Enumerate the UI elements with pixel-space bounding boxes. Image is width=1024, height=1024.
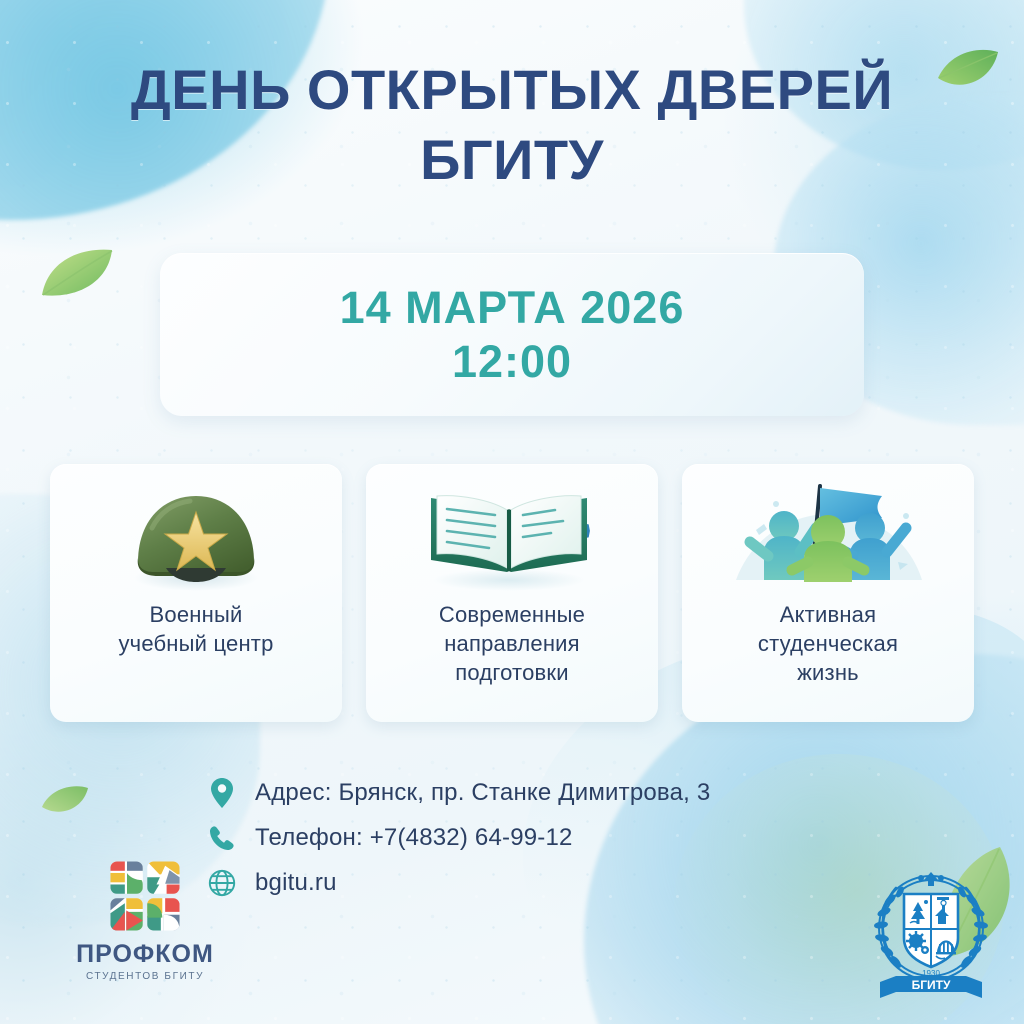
card-art-programs — [366, 464, 658, 592]
contact-address-text: Адрес: Брянск, пр. Станке Димитрова, 3 — [255, 779, 710, 807]
event-date-panel: 14 МАРТА 2026 12:00 — [160, 253, 864, 416]
feature-card-programs[interactable]: Современныенаправленияподготовки — [366, 464, 658, 722]
card-label-programs: Современныенаправленияподготовки — [439, 600, 585, 687]
contact-block: Адрес: Брянск, пр. Станке Димитрова, 3 Т… — [205, 772, 710, 907]
event-date: 14 МАРТА 2026 — [340, 284, 685, 331]
students-flag-icon — [730, 470, 926, 592]
card-art-military — [50, 464, 342, 592]
poster-canvas: ДЕНЬ ОТКРЫТЫХ ДВЕРЕЙ БГИТУ 14 МАРТА 2026… — [0, 0, 1024, 1024]
profkom-name: ПРОФКОМ — [60, 940, 230, 969]
card-label-military: Военныйучебный центр — [118, 600, 273, 658]
leaf-icon-top-left — [38, 245, 116, 301]
title-line-2: БГИТУ — [0, 132, 1024, 188]
feature-cards: Военныйучебный центр — [50, 464, 974, 722]
card-label-programs-wrap: Современныенаправленияподготовки — [429, 592, 595, 722]
card-art-student-life — [682, 464, 974, 592]
contact-row-website[interactable]: bgitu.ru — [205, 862, 710, 904]
contact-phone-text: Телефон: +7(4832) 64-99-12 — [255, 824, 573, 852]
profkom-subtitle: СТУДЕНТОВ БГИТУ — [60, 971, 230, 982]
event-time: 12:00 — [452, 338, 572, 385]
location-pin-icon — [205, 778, 239, 808]
contact-row-phone[interactable]: Телефон: +7(4832) 64-99-12 — [205, 817, 710, 859]
feature-card-military[interactable]: Военныйучебный центр — [50, 464, 342, 722]
bgitu-crest-emblem: 1930 БГИТУ — [866, 866, 996, 1006]
book-gear-icon — [419, 476, 605, 592]
card-label-military-wrap: Военныйучебный центр — [108, 592, 283, 722]
profkom-logo: ПРОФКОМ СТУДЕНТОВ БГИТУ — [60, 860, 230, 982]
military-helmet-icon — [122, 482, 270, 592]
page-title: ДЕНЬ ОТКРЫТЫХ ДВЕРЕЙ БГИТУ — [0, 62, 1024, 188]
feature-card-student-life[interactable]: Активнаястуденческаяжизнь — [682, 464, 974, 722]
leaf-icon-bottom-left — [40, 785, 90, 819]
card-label-student-life-wrap: Активнаястуденческаяжизнь — [748, 592, 908, 722]
emblem-banner-text: БГИТУ — [912, 978, 951, 992]
title-line-1: ДЕНЬ ОТКРЫТЫХ ДВЕРЕЙ — [0, 62, 1024, 118]
profkom-mosaic-logo — [109, 860, 181, 932]
contact-row-address: Адрес: Брянск, пр. Станке Димитрова, 3 — [205, 772, 710, 814]
contact-website-text: bgitu.ru — [255, 869, 337, 897]
card-label-student-life: Активнаястуденческаяжизнь — [758, 600, 898, 687]
phone-icon — [205, 825, 239, 851]
